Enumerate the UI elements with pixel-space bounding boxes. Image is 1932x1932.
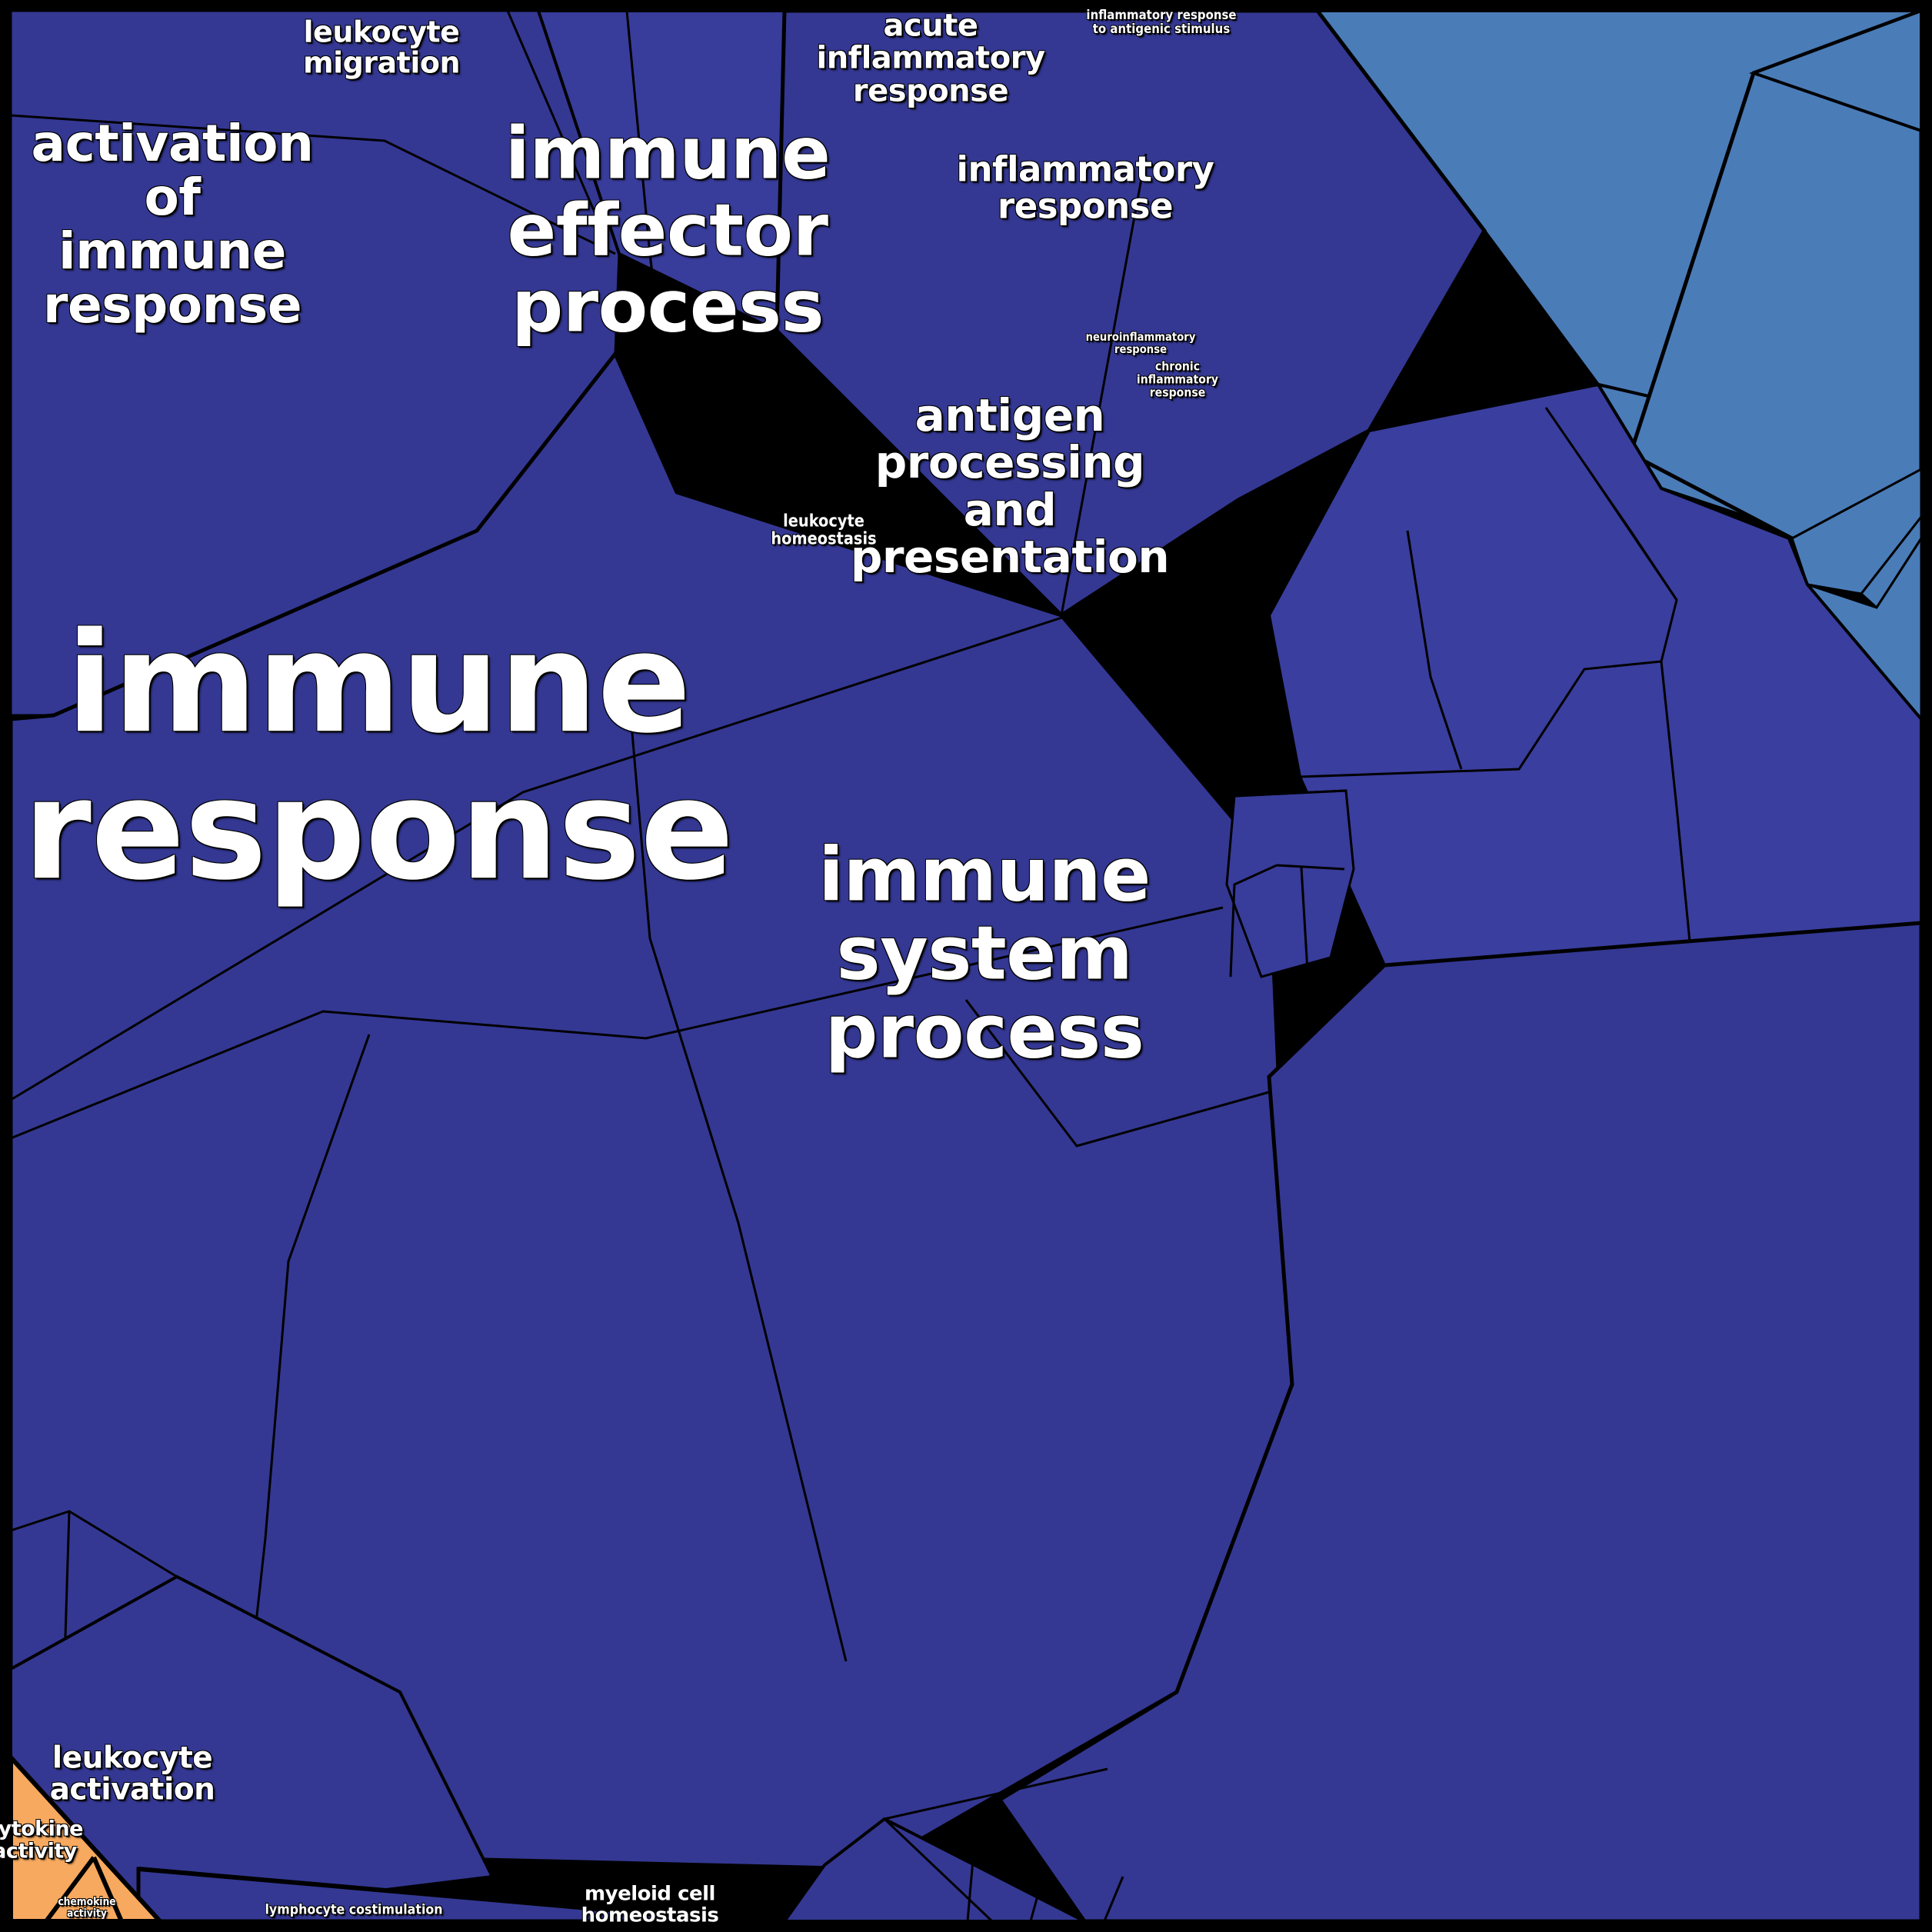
voronoi-treemap-figure: activation of immune response leukocyte … bbox=[0, 0, 1932, 1932]
treemap-canvas bbox=[0, 0, 1932, 1932]
